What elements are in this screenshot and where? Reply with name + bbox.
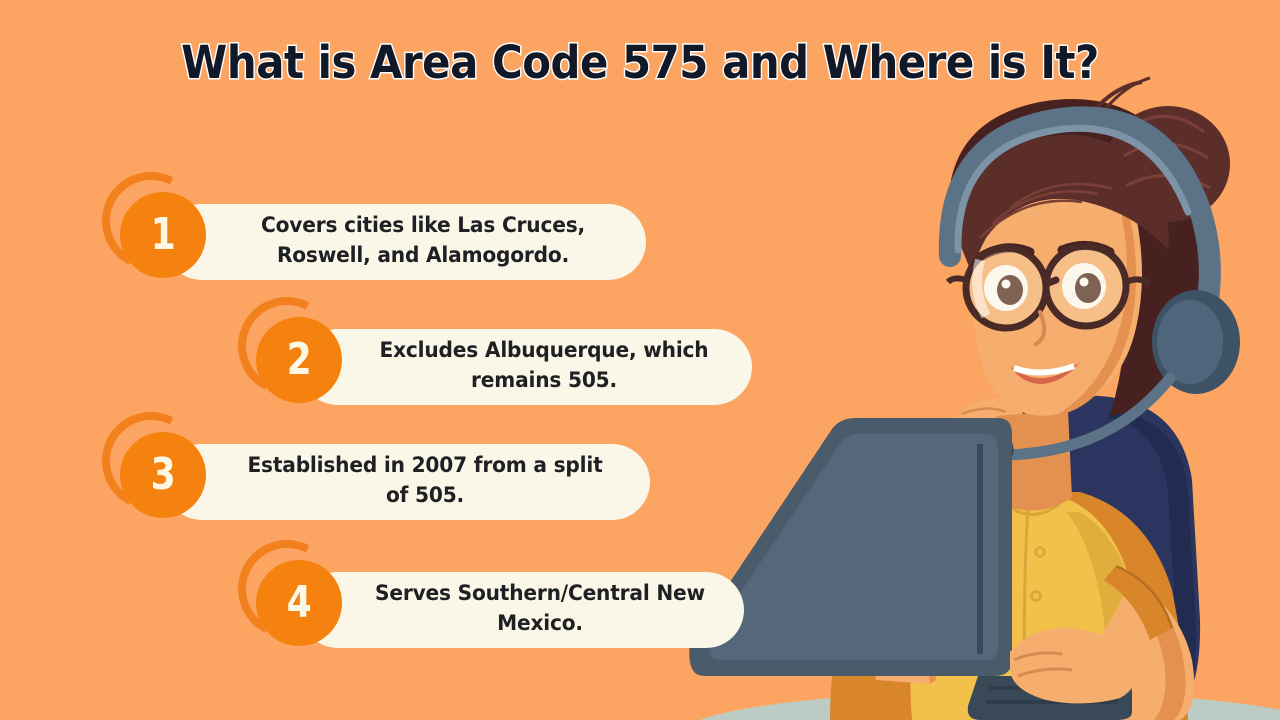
list-item-text: Covers cities like Las Cruces, Roswell, …: [234, 211, 612, 271]
list-item-pill: Serves Southern/Central New Mexico.: [300, 572, 744, 648]
list-item-text: Serves Southern/Central New Mexico.: [369, 579, 711, 639]
step-number: 2: [287, 338, 311, 382]
numbered-list: 1 Covers cities like Las Cruces, Roswell…: [0, 0, 720, 720]
step-number-badge: 3: [120, 432, 206, 518]
step-number-badge: 4: [256, 560, 342, 646]
step-number-badge: 2: [256, 317, 342, 403]
step-number-badge: 1: [120, 192, 206, 278]
list-item-text: Established in 2007 from a split of 505.: [234, 451, 616, 511]
call-agent-illustration: [680, 60, 1280, 720]
step-number: 3: [151, 453, 175, 497]
step-number: 4: [287, 581, 311, 625]
infographic-canvas: What is Area Code 575 and Where is It? 1…: [0, 0, 1280, 720]
list-item-pill: Covers cities like Las Cruces, Roswell, …: [164, 204, 646, 280]
list-item-text: Excludes Albuquerque, which remains 505.: [369, 336, 718, 396]
list-item-pill: Excludes Albuquerque, which remains 505.: [300, 329, 752, 405]
step-number: 1: [151, 213, 175, 257]
list-item-pill: Established in 2007 from a split of 505.: [164, 444, 650, 520]
